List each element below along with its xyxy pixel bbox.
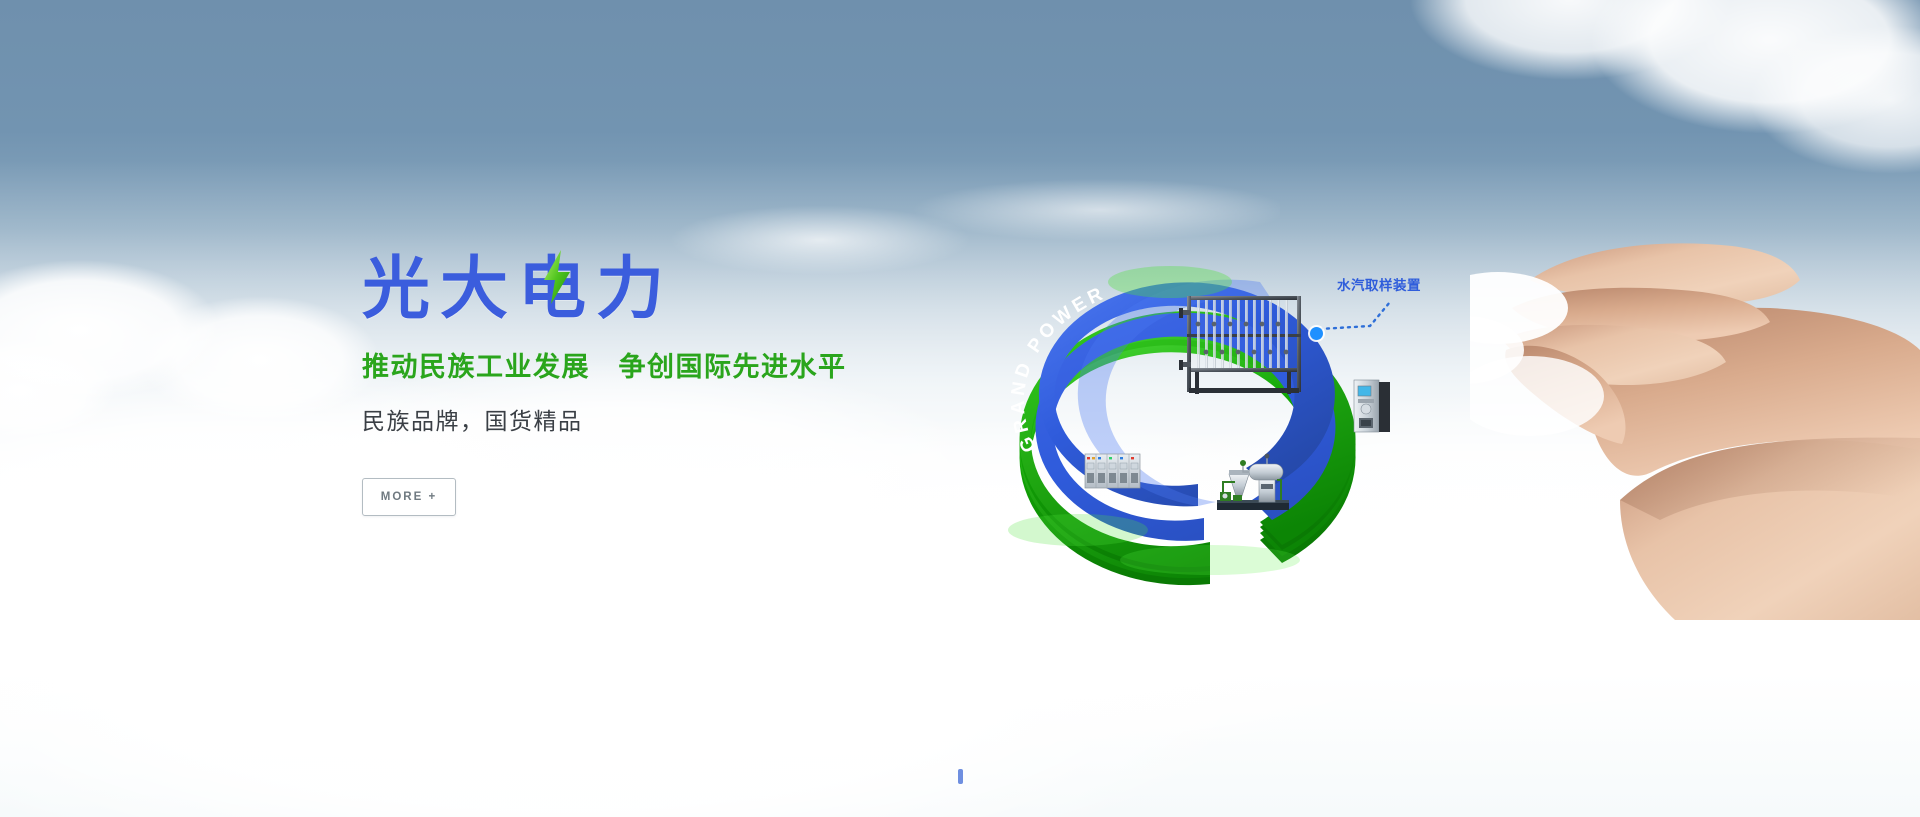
carousel-dot-1[interactable] (958, 769, 963, 784)
callout-marker-dot[interactable] (1310, 327, 1323, 340)
online-analyzer-cabinet-icon (1352, 378, 1392, 434)
dosing-skid-unit-icon (1215, 452, 1291, 514)
control-cabinet-panel-icon (1084, 452, 1141, 490)
callout-label: 水汽取样装置 (1337, 274, 1421, 294)
more-button[interactable]: MORE + (362, 478, 456, 516)
brand-title-text: 光大电力 (362, 251, 674, 327)
carousel-indicators (0, 769, 1920, 789)
hand-holding-cloud-image (1470, 200, 1920, 620)
cloud-left (0, 210, 420, 460)
product-ring-graphic: GRAND POWER 水汽取样装置 (960, 230, 1440, 590)
brand-title: 光大电力 (362, 255, 674, 323)
hero-banner: 光大电力 推动民族工业发展 争创国际先进水平 民族品牌，国货精品 MORE + (0, 0, 1920, 817)
water-steam-sampling-rack-icon (1179, 290, 1309, 402)
callout-leader-line (1320, 302, 1390, 329)
